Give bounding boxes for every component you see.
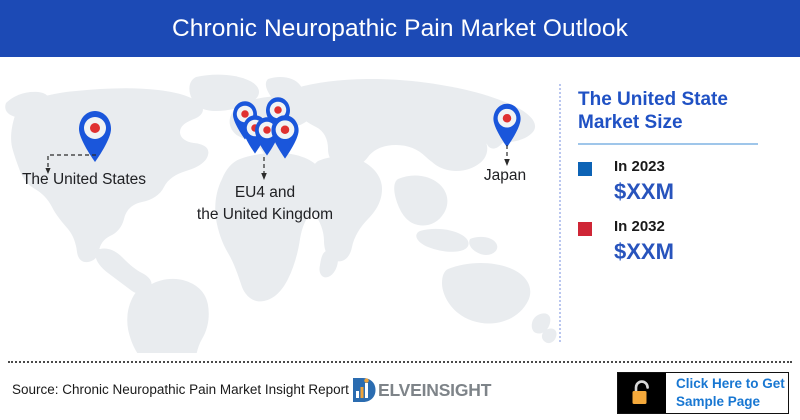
panel-heading-divider bbox=[578, 143, 758, 145]
bar-chart-logo-icon bbox=[352, 377, 377, 403]
map-label-japan: Japan bbox=[455, 165, 555, 187]
map-label-eu4-uk: EU4 and the United Kingdom bbox=[175, 182, 355, 227]
header-banner: Chronic Neuropathic Pain Market Outlook bbox=[0, 0, 800, 57]
legend-value-2032: $XXM bbox=[614, 238, 674, 266]
get-sample-page-button[interactable]: Click Here to Get Sample Page bbox=[617, 372, 789, 414]
map-pin-icon bbox=[268, 113, 302, 160]
delveinsight-logo: ELVEINSIGHT bbox=[352, 375, 472, 405]
cta-icon-container bbox=[618, 373, 666, 413]
map-label-eu4-uk-line1: EU4 and bbox=[175, 182, 355, 204]
logo-wordmark: ELVEINSIGHT bbox=[378, 380, 491, 401]
legend-item-2023: In 2023 $XXM bbox=[578, 159, 788, 205]
legend-text-2032: In 2032 $XXM bbox=[614, 219, 674, 265]
cta-label-line2: Sample Page bbox=[676, 393, 785, 411]
map-label-eu4-uk-line2: the United Kingdom bbox=[175, 204, 355, 226]
cta-label: Click Here to Get Sample Page bbox=[666, 373, 788, 413]
map-label-united-states: The United States bbox=[14, 169, 154, 191]
cta-label-line1: Click Here to Get bbox=[676, 375, 785, 393]
legend-text-2023: In 2023 $XXM bbox=[614, 159, 674, 205]
legend-year-2023: In 2023 bbox=[614, 159, 674, 176]
page-title: Chronic Neuropathic Pain Market Outlook bbox=[172, 15, 628, 43]
panel-heading-line1: The United State bbox=[578, 88, 788, 111]
footer-divider bbox=[8, 361, 792, 363]
map-pin-japan[interactable] bbox=[490, 102, 524, 148]
world-map-region: The United States bbox=[0, 57, 558, 357]
infographic-page: Chronic Neuropathic Pain Market Outlook bbox=[0, 0, 800, 420]
panel-heading-line2: Market Size bbox=[578, 111, 788, 134]
map-pin-icon bbox=[490, 102, 524, 148]
panel-vertical-divider bbox=[559, 84, 561, 342]
panel-heading: The United State Market Size bbox=[578, 88, 788, 134]
source-text: Source: Chronic Neuropathic Pain Market … bbox=[12, 382, 349, 397]
legend-value-2023: $XXM bbox=[614, 178, 674, 206]
map-pin-eu-5[interactable] bbox=[268, 113, 302, 160]
legend-item-2032: In 2032 $XXM bbox=[578, 219, 788, 265]
open-padlock-icon bbox=[630, 379, 654, 407]
legend-swatch-2023 bbox=[578, 162, 592, 176]
leader-line-japan bbox=[499, 145, 515, 167]
leader-line-eu4-uk bbox=[256, 157, 272, 181]
legend-swatch-2032 bbox=[578, 222, 592, 236]
market-size-panel: The United State Market Size In 2023 $XX… bbox=[578, 88, 788, 265]
legend-year-2032: In 2032 bbox=[614, 219, 674, 236]
